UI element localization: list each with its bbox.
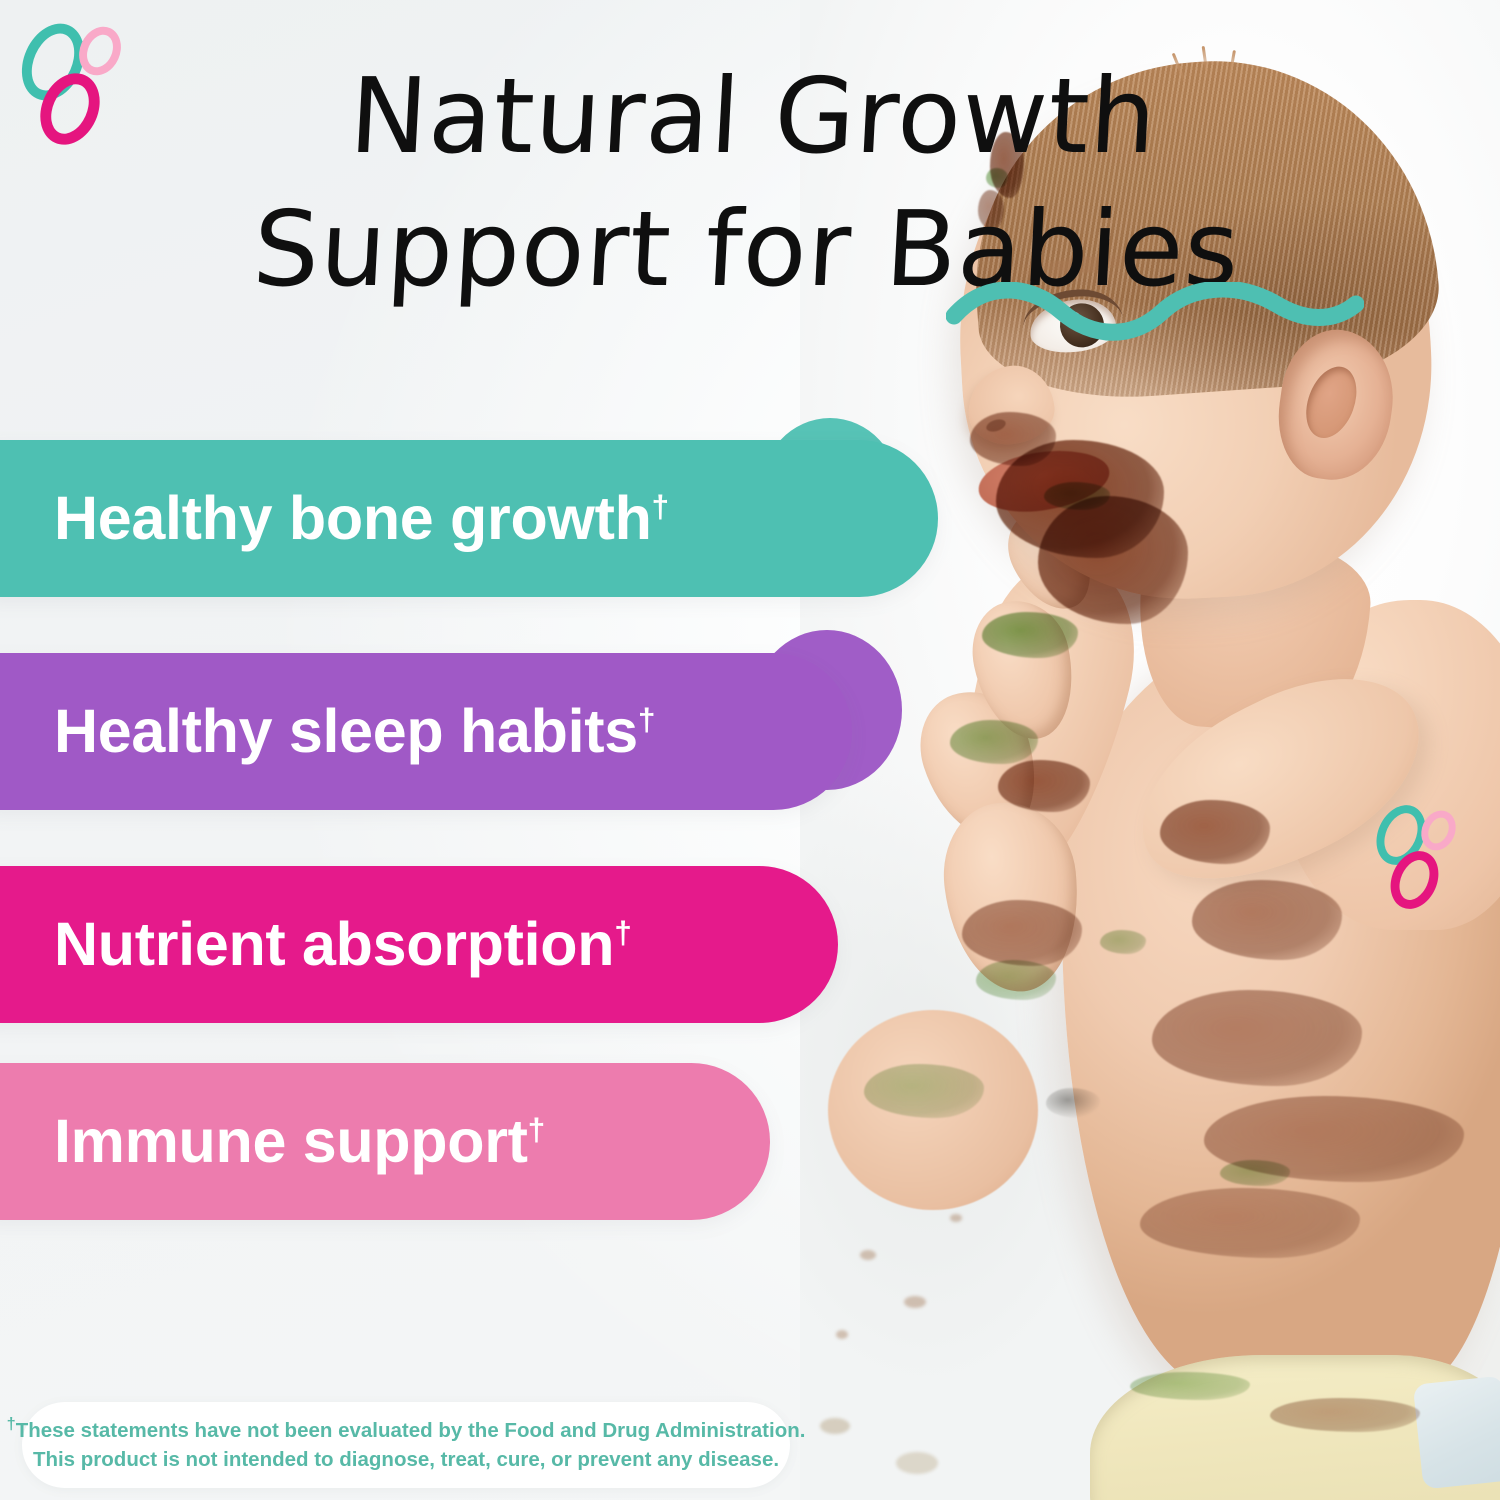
squiggle-underline-icon: [946, 282, 1364, 344]
diaper-tab: [1413, 1376, 1500, 1490]
food-crumb: [904, 1296, 926, 1308]
benefit-pill-nutrient-absorption[interactable]: Nutrient absorption†: [0, 866, 838, 1023]
disclaimer-line-1: †These statements have not been evaluate…: [7, 1416, 806, 1445]
food-smear-dark: [1046, 1088, 1100, 1118]
food-crumb: [836, 1330, 848, 1339]
promo-banner: Natural Growth Support for Babies Health…: [0, 0, 1500, 1500]
benefit-label: Nutrient absorption†: [54, 914, 632, 975]
benefit-pill-healthy-sleep-habits[interactable]: Healthy sleep habits†: [0, 653, 852, 810]
benefit-pill-healthy-bone-growth[interactable]: Healthy bone growth†: [0, 440, 938, 597]
page-title: Natural Growth Support for Babies: [0, 52, 1500, 314]
face-food-smear-green: [1044, 482, 1110, 510]
food-smear-green: [1220, 1160, 1290, 1186]
food-crumb: [860, 1250, 876, 1260]
ring-light-pink-icon: [1415, 805, 1462, 856]
benefit-label: Immune support†: [54, 1111, 545, 1172]
food-crumb: [896, 1452, 938, 1474]
disclaimer-line-2: This product is not intended to diagnose…: [33, 1445, 779, 1474]
benefit-label: Healthy sleep habits†: [54, 701, 655, 762]
food-crumb: [820, 1418, 850, 1434]
fda-disclaimer-panel: †These statements have not been evaluate…: [22, 1402, 790, 1488]
benefit-label: Healthy bone growth†: [54, 488, 669, 549]
food-smear-green: [1100, 930, 1146, 954]
decor-ring-cluster-right: [1378, 798, 1500, 928]
food-crumb: [950, 1214, 962, 1222]
benefit-pill-immune-support[interactable]: Immune support†: [0, 1063, 770, 1220]
title-line-1: Natural Growth: [0, 52, 1500, 181]
